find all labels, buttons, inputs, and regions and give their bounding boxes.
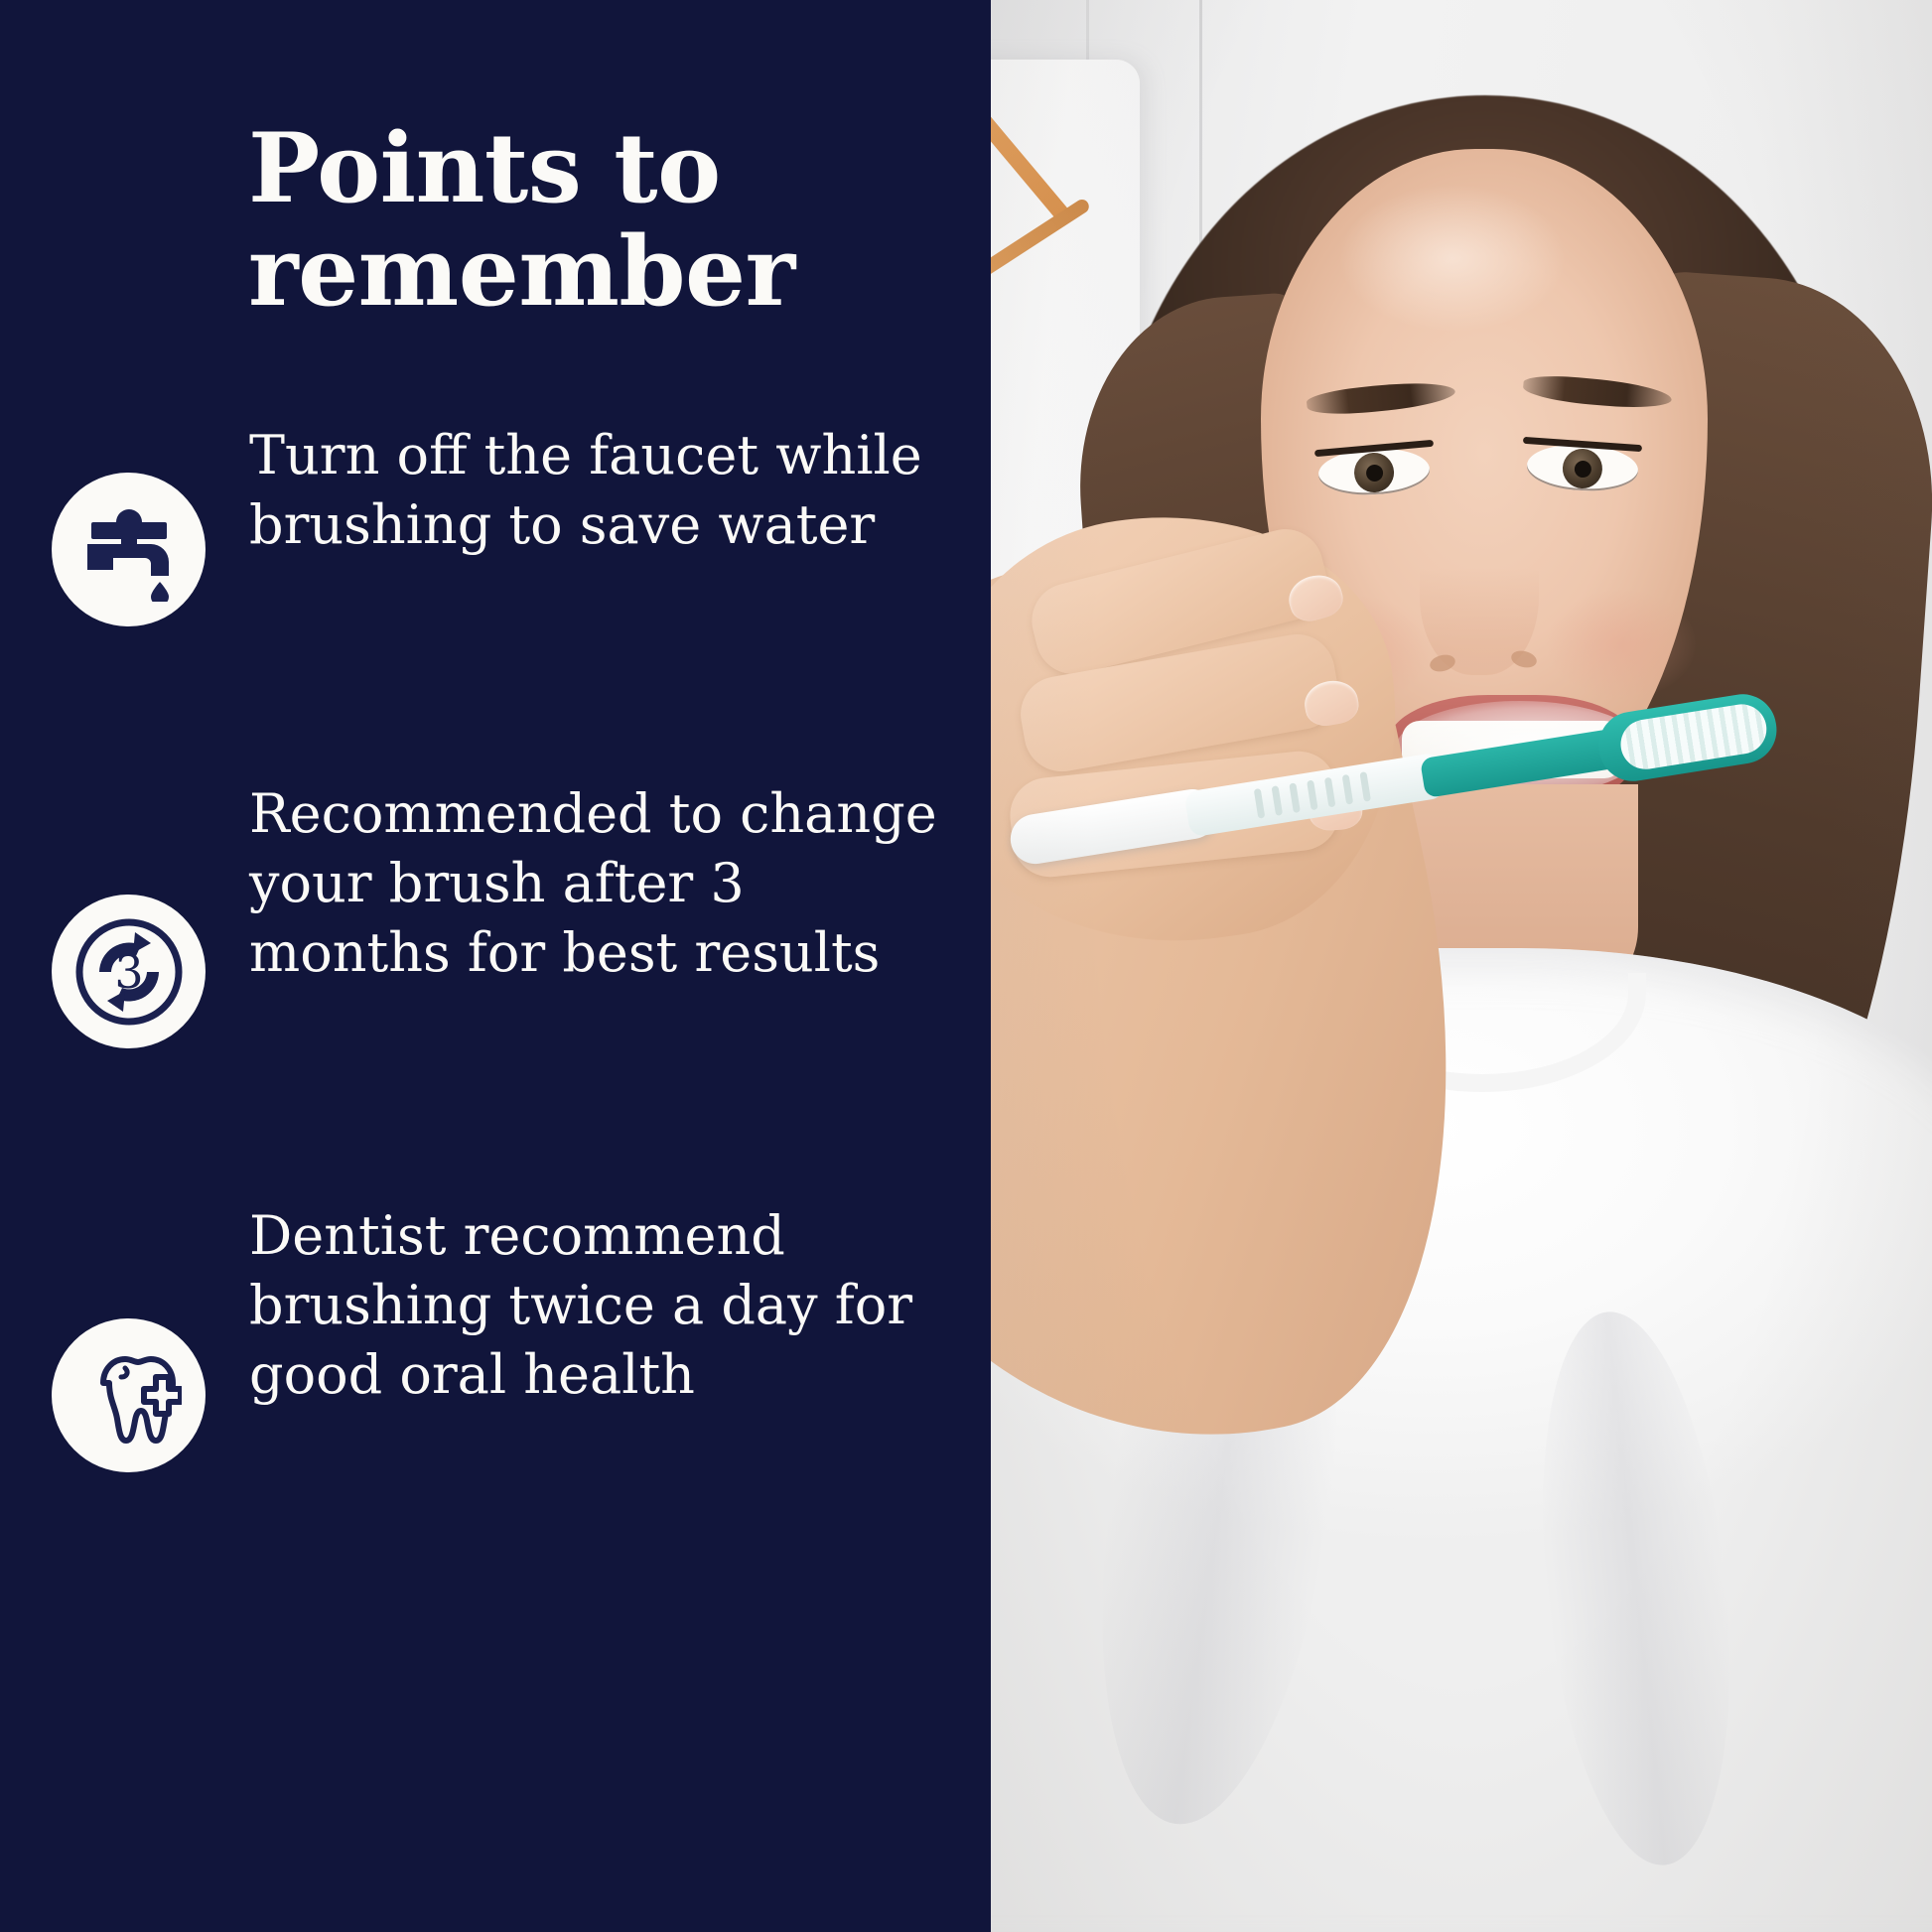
faucet-water-drop-icon <box>52 473 206 626</box>
list-item: 3 Recommended to change your brush after… <box>0 785 991 1048</box>
list-item-label: Recommended to change your brush after 3… <box>249 779 991 989</box>
cheek-right <box>1547 590 1696 699</box>
points-list: Turn off the faucet while brushing to sa… <box>0 427 991 1472</box>
infographic-poster: Points to remember <box>0 0 1932 1932</box>
tooth-plus-icon <box>52 1318 206 1472</box>
list-item-label: Dentist recommend brushing twice a day f… <box>249 1201 991 1411</box>
photo-panel <box>991 0 1932 1932</box>
toothbrush-neck <box>1420 728 1622 798</box>
page-title: Points to remember <box>248 117 943 323</box>
list-item-label: Turn off the faucet while brushing to sa… <box>249 421 991 560</box>
svg-text:3: 3 <box>114 945 143 999</box>
list-item: Turn off the faucet while brushing to sa… <box>0 427 991 626</box>
left-content-panel: Points to remember <box>0 0 991 1932</box>
three-months-cycle-icon: 3 <box>52 895 206 1048</box>
forehead-highlight <box>1338 184 1567 333</box>
list-item: Dentist recommend brushing twice a day f… <box>0 1207 991 1472</box>
nose <box>1420 496 1539 675</box>
